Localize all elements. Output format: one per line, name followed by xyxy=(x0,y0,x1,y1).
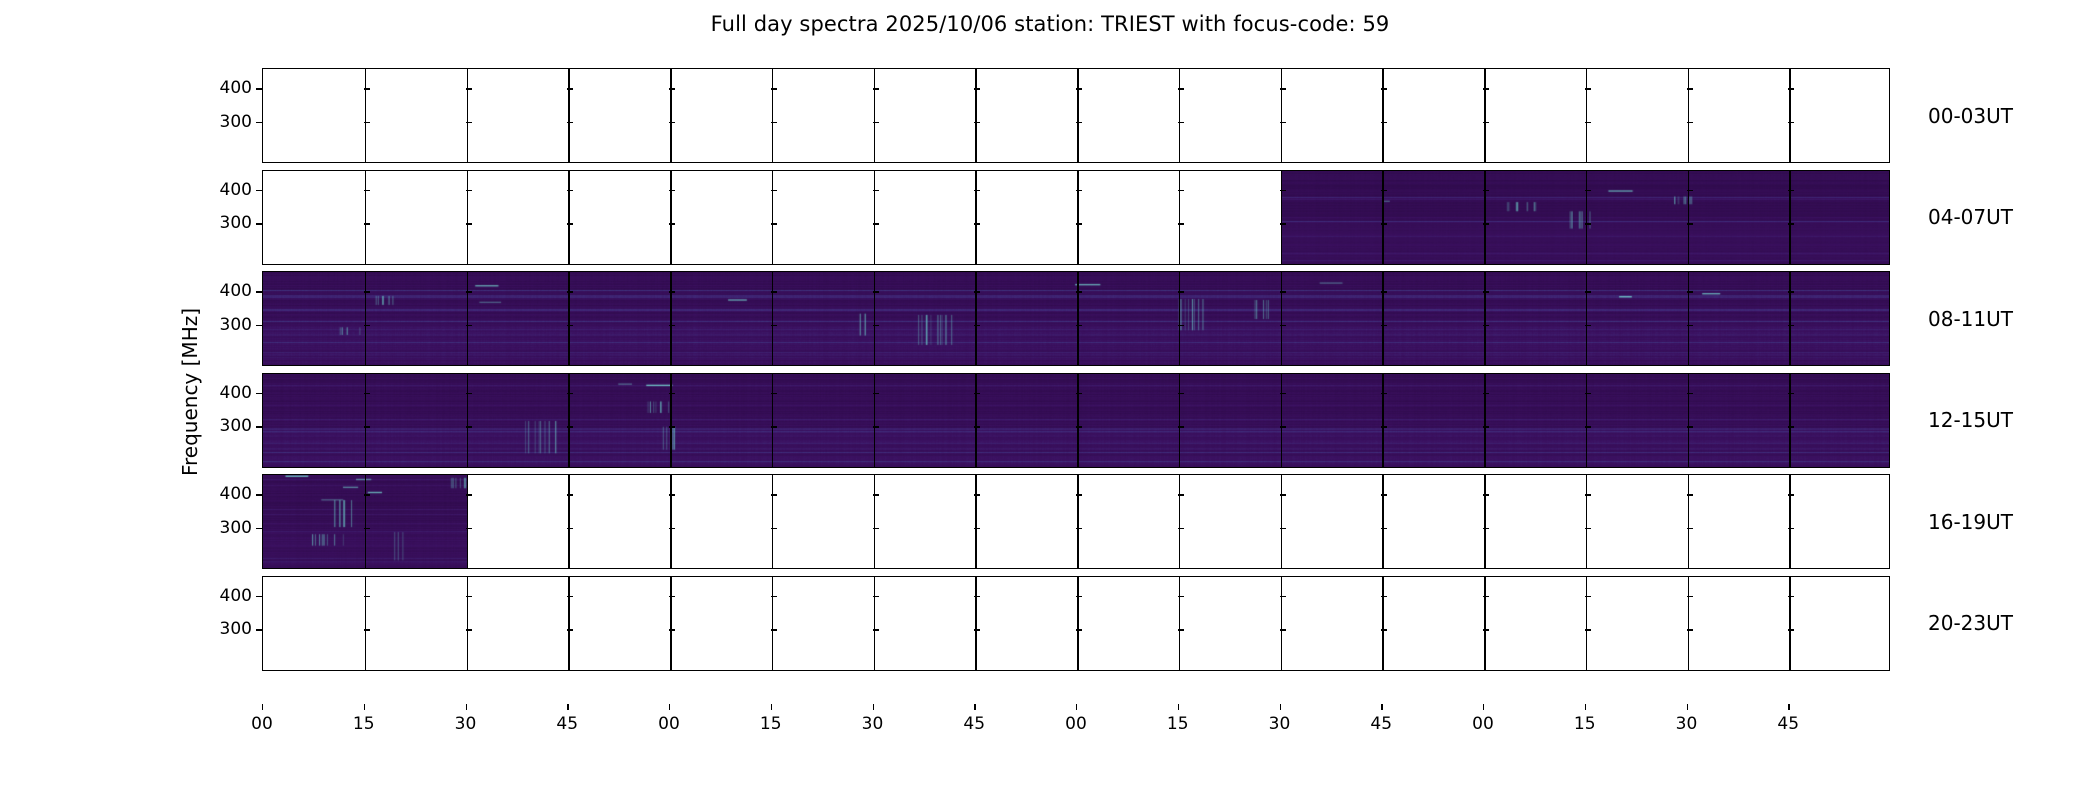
segment-separator xyxy=(467,272,469,365)
y-tick-mark-inner xyxy=(1585,190,1591,191)
y-tick-mark-inner xyxy=(1178,223,1184,224)
y-tick-mark-inner xyxy=(1585,528,1591,529)
y-tick-mark-inner xyxy=(1687,494,1693,495)
segment-separator xyxy=(772,374,774,467)
y-tick-mark-inner xyxy=(1381,122,1387,123)
segment-separator xyxy=(365,374,367,467)
row-time-label: 16-19UT xyxy=(1928,510,2013,534)
segment-separator xyxy=(1382,577,1384,670)
y-tick-mark-inner xyxy=(1076,494,1082,495)
y-tick-label: 300 xyxy=(220,112,252,132)
y-tick-mark-inner xyxy=(974,325,980,326)
x-tick-label: 45 xyxy=(1370,714,1392,734)
x-axis: 00153045001530450015304500153045 xyxy=(262,710,1890,750)
y-tick-mark-inner xyxy=(466,88,472,89)
y-tick-mark-inner xyxy=(1381,325,1387,326)
y-tick-mark-inner xyxy=(567,190,573,191)
segment-separator xyxy=(1077,272,1079,365)
y-tick-label: 300 xyxy=(220,213,252,233)
y-tick-mark-inner xyxy=(873,494,879,495)
y-tick-mark-inner xyxy=(669,393,675,394)
row-time-label: 04-07UT xyxy=(1928,205,2013,229)
y-tick-mark-inner xyxy=(1788,629,1794,630)
x-tick-mark xyxy=(1076,704,1077,710)
segment-separator xyxy=(365,577,367,670)
y-tick-mark-inner xyxy=(466,528,472,529)
segment-separator xyxy=(670,69,672,162)
y-tick-mark-inner xyxy=(974,291,980,292)
y-tick-mark-inner xyxy=(466,291,472,292)
x-tick-mark xyxy=(1280,704,1281,710)
y-tick-label: 400 xyxy=(220,484,252,504)
segment-separator xyxy=(1281,475,1283,568)
y-tick-mark-inner xyxy=(1585,393,1591,394)
y-tick-mark-inner xyxy=(1178,291,1184,292)
y-tick-mark-inner xyxy=(567,596,573,597)
y-tick-mark-inner xyxy=(771,528,777,529)
y-tick-mark-inner xyxy=(1280,88,1286,89)
y-tick-mark-inner xyxy=(771,291,777,292)
y-tick-mark-inner xyxy=(669,528,675,529)
x-tick-mark xyxy=(1178,704,1179,710)
y-tick-mark xyxy=(256,325,262,326)
plot-area[interactable] xyxy=(262,271,1890,366)
segment-separator xyxy=(1281,171,1283,264)
y-tick-mark-inner xyxy=(1483,629,1489,630)
y-tick-mark-inner xyxy=(364,528,370,529)
y-tick-mark-inner xyxy=(1585,629,1591,630)
y-tick-mark-inner xyxy=(669,291,675,292)
y-tick-label: 300 xyxy=(220,518,252,538)
x-tick-label: 00 xyxy=(1472,714,1494,734)
segment-separator xyxy=(1484,171,1486,264)
x-tick-mark xyxy=(466,704,467,710)
segment-separator xyxy=(1688,475,1690,568)
y-tick-mark-inner xyxy=(771,426,777,427)
y-tick-mark xyxy=(256,190,262,191)
y-tick-mark-inner xyxy=(1280,629,1286,630)
y-tick-mark-inner xyxy=(1178,528,1184,529)
y-tick-mark-inner xyxy=(364,122,370,123)
segment-separator xyxy=(1382,272,1384,365)
segment-separator xyxy=(1077,69,1079,162)
y-tick-mark-inner xyxy=(1687,393,1693,394)
plot-area[interactable] xyxy=(262,474,1890,569)
segment-separator xyxy=(1281,69,1283,162)
x-tick-label: 00 xyxy=(658,714,680,734)
y-tick-mark-inner xyxy=(364,190,370,191)
x-tick-label: 15 xyxy=(760,714,782,734)
segment-separator xyxy=(568,171,570,264)
plot-area[interactable] xyxy=(262,68,1890,163)
y-tick-mark-inner xyxy=(1178,190,1184,191)
y-tick-mark-inner xyxy=(669,325,675,326)
segment-separator xyxy=(1586,171,1588,264)
segment-separator xyxy=(975,69,977,162)
segment-separator xyxy=(1281,272,1283,365)
segment-separator xyxy=(1688,272,1690,365)
y-tick-mark-inner xyxy=(567,88,573,89)
y-tick-mark-inner xyxy=(873,223,879,224)
y-tick-mark-inner xyxy=(1280,426,1286,427)
y-tick-mark-inner xyxy=(1178,426,1184,427)
spectrogram-row-04-07ut[interactable]: 40030004-07UT xyxy=(262,170,1890,265)
y-tick-mark-inner xyxy=(1178,88,1184,89)
y-tick-mark-inner xyxy=(364,291,370,292)
y-tick-mark xyxy=(256,223,262,224)
y-tick-mark-inner xyxy=(974,596,980,597)
y-tick-mark-inner xyxy=(1381,291,1387,292)
y-tick-mark-inner xyxy=(669,190,675,191)
segment-separator xyxy=(1179,374,1181,467)
x-tick-label: 15 xyxy=(1574,714,1596,734)
y-tick-mark-inner xyxy=(771,393,777,394)
y-tick-mark-inner xyxy=(567,494,573,495)
y-tick-mark-inner xyxy=(567,122,573,123)
segment-separator xyxy=(1179,69,1181,162)
y-tick-mark-inner xyxy=(1381,426,1387,427)
x-tick-label: 45 xyxy=(556,714,578,734)
y-tick-mark-inner xyxy=(1381,596,1387,597)
segment-separator xyxy=(365,272,367,365)
y-tick-mark-inner xyxy=(1381,629,1387,630)
y-tick-mark-inner xyxy=(1585,291,1591,292)
y-tick-mark-inner xyxy=(1585,596,1591,597)
x-tick-label: 45 xyxy=(1777,714,1799,734)
y-tick-mark-inner xyxy=(1585,494,1591,495)
y-tick-mark-inner xyxy=(1483,528,1489,529)
y-tick-label: 400 xyxy=(220,78,252,98)
y-tick-label: 300 xyxy=(220,416,252,436)
spectrogram-row-12-15ut[interactable]: 40030012-15UT xyxy=(262,373,1890,468)
y-tick-mark-inner xyxy=(1076,393,1082,394)
y-tick-mark-inner xyxy=(1788,325,1794,326)
x-tick-label: 30 xyxy=(862,714,884,734)
segment-separator xyxy=(670,577,672,670)
segment-separator xyxy=(772,69,774,162)
y-tick-mark-inner xyxy=(1178,596,1184,597)
segment-separator xyxy=(1586,69,1588,162)
segment-separator xyxy=(1688,171,1690,264)
y-tick-mark-inner xyxy=(1687,190,1693,191)
y-tick-mark xyxy=(256,426,262,427)
x-tick-label: 15 xyxy=(353,714,375,734)
plot-area[interactable] xyxy=(262,373,1890,468)
segment-separator xyxy=(975,272,977,365)
y-tick-mark-inner xyxy=(873,190,879,191)
segment-separator xyxy=(1077,374,1079,467)
y-tick-mark-inner xyxy=(1687,223,1693,224)
segment-separator xyxy=(975,577,977,670)
y-tick-mark-inner xyxy=(1585,325,1591,326)
x-tick-mark xyxy=(262,704,263,710)
y-tick-mark-inner xyxy=(1687,426,1693,427)
y-tick-mark-inner xyxy=(1687,596,1693,597)
spectrogram-row-20-23ut[interactable]: 40030020-23UT xyxy=(262,576,1890,671)
y-tick-mark-inner xyxy=(1483,596,1489,597)
segment-separator xyxy=(1281,577,1283,670)
y-tick-label: 300 xyxy=(220,619,252,639)
y-tick-mark-inner xyxy=(873,291,879,292)
y-tick-mark-inner xyxy=(771,325,777,326)
x-tick-label: 15 xyxy=(1167,714,1189,734)
y-tick-mark-inner xyxy=(1178,325,1184,326)
y-tick-mark-inner xyxy=(466,629,472,630)
y-tick-mark-inner xyxy=(1788,528,1794,529)
segment-separator xyxy=(1179,272,1181,365)
segment-separator xyxy=(975,475,977,568)
x-tick-label: 30 xyxy=(1269,714,1291,734)
y-tick-mark xyxy=(256,393,262,394)
y-tick-mark-inner xyxy=(1178,393,1184,394)
y-tick-mark-inner xyxy=(771,223,777,224)
segment-separator xyxy=(1789,475,1791,568)
y-tick-label: 400 xyxy=(220,383,252,403)
segment-separator xyxy=(467,171,469,264)
spectrogram-row-08-11ut[interactable]: 40030008-11UT xyxy=(262,271,1890,366)
segment-separator xyxy=(1688,69,1690,162)
segment-separator xyxy=(874,475,876,568)
plot-area[interactable] xyxy=(262,170,1890,265)
y-tick-mark-inner xyxy=(1585,223,1591,224)
x-tick-mark xyxy=(974,704,975,710)
y-tick-mark-inner xyxy=(873,325,879,326)
y-tick-mark-inner xyxy=(1788,88,1794,89)
segment-separator xyxy=(772,577,774,670)
y-tick-mark-inner xyxy=(1076,122,1082,123)
y-tick-mark-inner xyxy=(1076,291,1082,292)
y-tick-mark-inner xyxy=(1687,88,1693,89)
y-tick-mark-inner xyxy=(364,325,370,326)
y-tick-mark-inner xyxy=(1687,291,1693,292)
y-tick-mark-inner xyxy=(1280,393,1286,394)
y-tick-mark-inner xyxy=(466,494,472,495)
y-tick-mark-inner xyxy=(567,393,573,394)
y-tick-label: 400 xyxy=(220,281,252,301)
row-time-label: 00-03UT xyxy=(1928,104,2013,128)
y-tick-mark-inner xyxy=(1076,528,1082,529)
segment-separator xyxy=(874,171,876,264)
segment-separator xyxy=(1484,475,1486,568)
y-tick-mark-inner xyxy=(1076,190,1082,191)
y-tick-mark-inner xyxy=(1381,528,1387,529)
y-tick-mark-inner xyxy=(567,223,573,224)
x-tick-label: 00 xyxy=(1065,714,1087,734)
y-tick-mark xyxy=(256,291,262,292)
row-time-label: 20-23UT xyxy=(1928,611,2013,635)
segment-separator xyxy=(1586,577,1588,670)
y-tick-mark-inner xyxy=(466,122,472,123)
x-tick-label: 30 xyxy=(1676,714,1698,734)
segment-separator xyxy=(1688,577,1690,670)
y-tick-mark-inner xyxy=(873,393,879,394)
segment-separator xyxy=(1586,475,1588,568)
y-tick-mark-inner xyxy=(1076,88,1082,89)
y-tick-mark-inner xyxy=(1076,629,1082,630)
segment-separator xyxy=(1789,272,1791,365)
y-tick-mark-inner xyxy=(669,426,675,427)
y-axis-label: Frequency [MHz] xyxy=(178,232,202,552)
y-tick-mark-inner xyxy=(364,393,370,394)
segment-separator xyxy=(1789,171,1791,264)
x-tick-mark xyxy=(567,704,568,710)
segment-separator xyxy=(1382,171,1384,264)
y-tick-mark-inner xyxy=(771,122,777,123)
y-tick-mark-inner xyxy=(1280,528,1286,529)
y-tick-mark-inner xyxy=(1483,223,1489,224)
segment-separator xyxy=(975,374,977,467)
y-tick-mark-inner xyxy=(1280,190,1286,191)
y-tick-mark-inner xyxy=(1788,393,1794,394)
y-tick-mark-inner xyxy=(1381,223,1387,224)
y-tick-mark-inner xyxy=(466,190,472,191)
y-tick-mark-inner xyxy=(873,528,879,529)
y-tick-mark xyxy=(256,88,262,89)
y-tick-mark-inner xyxy=(1687,629,1693,630)
y-tick-mark-inner xyxy=(466,596,472,597)
y-tick-mark-inner xyxy=(567,528,573,529)
y-tick-mark-inner xyxy=(364,494,370,495)
segment-separator xyxy=(1688,374,1690,467)
y-tick-mark-inner xyxy=(873,629,879,630)
y-tick-mark-inner xyxy=(1585,426,1591,427)
y-tick-mark-inner xyxy=(1483,426,1489,427)
segment-separator xyxy=(1484,577,1486,670)
y-tick-mark xyxy=(256,596,262,597)
y-tick-mark-inner xyxy=(1076,596,1082,597)
x-tick-label: 45 xyxy=(963,714,985,734)
y-tick-mark xyxy=(256,122,262,123)
y-tick-mark-inner xyxy=(1687,528,1693,529)
y-tick-mark-inner xyxy=(1280,223,1286,224)
y-tick-mark-inner xyxy=(974,528,980,529)
x-tick-mark xyxy=(364,704,365,710)
y-tick-mark-inner xyxy=(567,629,573,630)
y-tick-mark-inner xyxy=(669,122,675,123)
segment-separator xyxy=(772,272,774,365)
segment-separator xyxy=(975,171,977,264)
spectrogram-row-16-19ut[interactable]: 40030016-19UT xyxy=(262,474,1890,569)
y-tick-mark-inner xyxy=(771,596,777,597)
y-tick-mark-inner xyxy=(567,325,573,326)
y-tick-mark-inner xyxy=(1076,223,1082,224)
x-tick-mark xyxy=(1483,704,1484,710)
x-tick-mark xyxy=(771,704,772,710)
x-tick-mark xyxy=(669,704,670,710)
segment-separator xyxy=(1281,374,1283,467)
y-tick-mark-inner xyxy=(466,426,472,427)
segment-separator xyxy=(467,69,469,162)
y-tick-mark-inner xyxy=(873,122,879,123)
y-tick-mark-inner xyxy=(1687,122,1693,123)
segment-separator xyxy=(1179,171,1181,264)
segment-separator xyxy=(1484,272,1486,365)
y-tick-mark-inner xyxy=(669,88,675,89)
segment-separator xyxy=(1179,475,1181,568)
y-tick-mark-inner xyxy=(1381,190,1387,191)
plot-area[interactable] xyxy=(262,576,1890,671)
y-tick-mark-inner xyxy=(466,325,472,326)
y-tick-mark-inner xyxy=(1483,325,1489,326)
y-tick-mark-inner xyxy=(771,88,777,89)
y-tick-mark xyxy=(256,528,262,529)
y-tick-mark-inner xyxy=(974,190,980,191)
x-tick-label: 30 xyxy=(455,714,477,734)
y-tick-mark-inner xyxy=(873,596,879,597)
y-tick-mark xyxy=(256,629,262,630)
x-tick-mark xyxy=(1687,704,1688,710)
y-tick-mark-inner xyxy=(1381,393,1387,394)
y-tick-mark-inner xyxy=(1483,122,1489,123)
y-tick-mark-inner xyxy=(1076,325,1082,326)
spectrogram-row-00-03ut[interactable]: 40030000-03UT xyxy=(262,68,1890,163)
y-tick-label: 400 xyxy=(220,586,252,606)
segment-separator xyxy=(568,272,570,365)
segment-separator xyxy=(1586,374,1588,467)
y-tick-mark-inner xyxy=(1483,190,1489,191)
y-tick-mark-inner xyxy=(1788,122,1794,123)
segment-separator xyxy=(1789,69,1791,162)
x-tick-mark xyxy=(873,704,874,710)
y-tick-mark-inner xyxy=(873,426,879,427)
y-tick-mark-inner xyxy=(1076,426,1082,427)
y-tick-mark-inner xyxy=(669,629,675,630)
x-tick-mark xyxy=(1585,704,1586,710)
y-tick-mark-inner xyxy=(1280,494,1286,495)
segment-separator xyxy=(670,171,672,264)
page-title: Full day spectra 2025/10/06 station: TRI… xyxy=(0,12,2100,36)
segment-separator xyxy=(874,374,876,467)
y-tick-mark-inner xyxy=(364,223,370,224)
y-tick-mark-inner xyxy=(1585,88,1591,89)
y-tick-mark-inner xyxy=(567,426,573,427)
y-tick-label: 300 xyxy=(220,315,252,335)
y-tick-mark-inner xyxy=(1483,494,1489,495)
segment-separator xyxy=(1484,374,1486,467)
segment-separator xyxy=(1789,577,1791,670)
segment-separator xyxy=(1077,475,1079,568)
y-tick-mark xyxy=(256,494,262,495)
segment-separator xyxy=(1382,69,1384,162)
row-time-label: 12-15UT xyxy=(1928,408,2013,432)
segment-separator xyxy=(1789,374,1791,467)
y-tick-mark-inner xyxy=(466,393,472,394)
segment-separator xyxy=(568,69,570,162)
segment-separator xyxy=(467,374,469,467)
y-tick-mark-inner xyxy=(873,88,879,89)
segment-separator xyxy=(365,171,367,264)
y-tick-mark-inner xyxy=(1585,122,1591,123)
y-tick-mark-inner xyxy=(1687,325,1693,326)
x-tick-label: 00 xyxy=(251,714,273,734)
segment-separator xyxy=(568,577,570,670)
y-tick-mark-inner xyxy=(1788,190,1794,191)
y-tick-mark-inner xyxy=(1280,122,1286,123)
y-tick-mark-inner xyxy=(1483,393,1489,394)
segment-separator xyxy=(568,374,570,467)
y-tick-mark-inner xyxy=(364,596,370,597)
segment-separator xyxy=(365,475,367,568)
x-tick-mark xyxy=(1381,704,1382,710)
y-tick-mark-inner xyxy=(974,88,980,89)
segment-separator xyxy=(1586,272,1588,365)
y-tick-mark-inner xyxy=(974,629,980,630)
segment-separator xyxy=(1077,171,1079,264)
y-tick-mark-inner xyxy=(1280,291,1286,292)
y-tick-mark-inner xyxy=(669,596,675,597)
y-tick-mark-inner xyxy=(1483,291,1489,292)
segment-separator xyxy=(467,577,469,670)
